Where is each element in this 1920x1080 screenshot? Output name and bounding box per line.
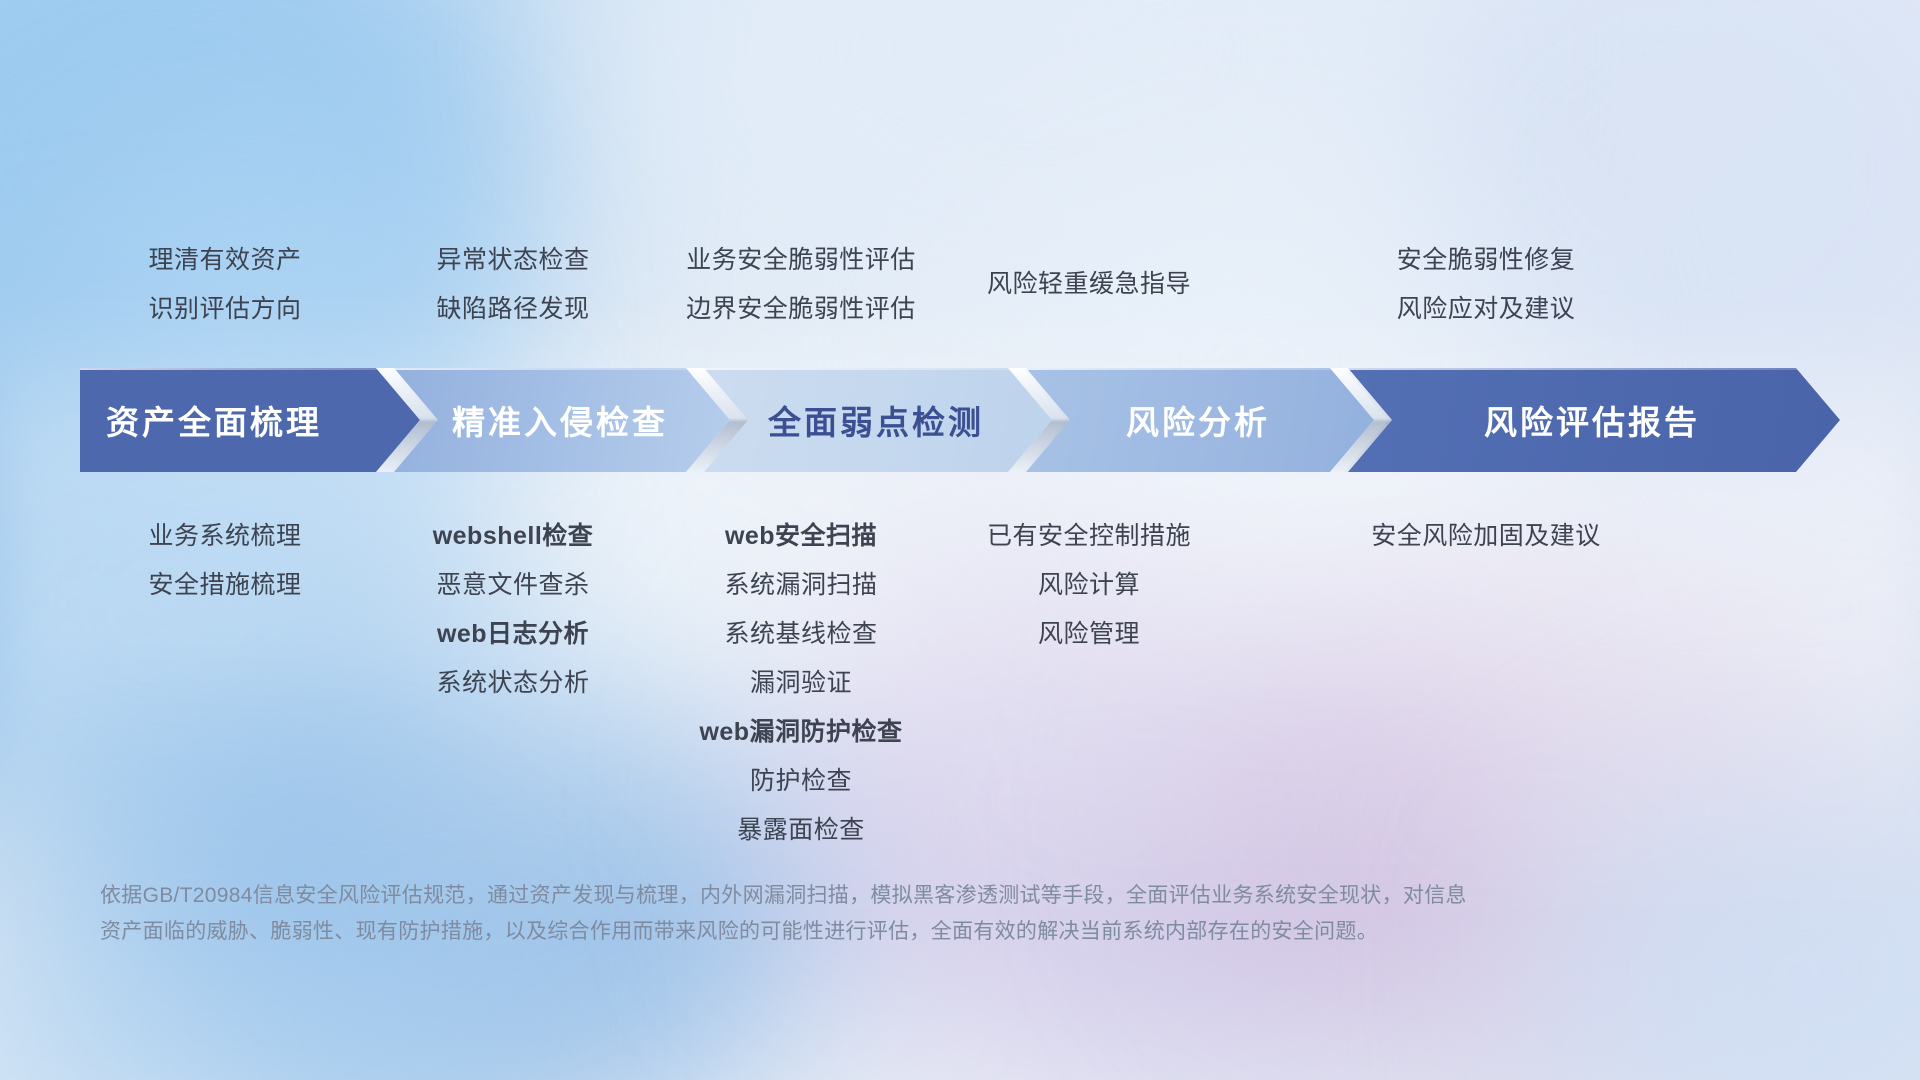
stage-bottom-item: 已有安全控制措施 xyxy=(944,512,1234,561)
stage-bottom-item: 风险计算 xyxy=(944,561,1234,610)
chevron-stage-asset-inventory[interactable]: 资产全面梳理 xyxy=(80,368,420,472)
stage-bottom-item: 安全风险加固及建议 xyxy=(1286,512,1686,561)
stage-top-item: 边界安全脆弱性评估 xyxy=(656,285,946,334)
stage-top-item: 缺陷路径发现 xyxy=(368,285,658,334)
stage-top-item: 识别评估方向 xyxy=(80,285,370,334)
stage-bottom-item: 安全措施梳理 xyxy=(80,561,370,610)
stage-top-list: 异常状态检查 缺陷路径发现 xyxy=(368,236,658,334)
stage-bottom-item: 系统漏洞扫描 xyxy=(656,561,946,610)
stage-bottom-item: 防护检查 xyxy=(656,757,946,806)
stage-bottom-item: webshell检查 xyxy=(368,512,658,561)
stage-top-item: 安全脆弱性修复 xyxy=(1286,236,1686,285)
stage-bottom-item: web安全扫描 xyxy=(656,512,946,561)
chevron-stage-risk-report[interactable]: 风险评估报告 xyxy=(1344,368,1840,472)
stage-bottom-list: 安全风险加固及建议 xyxy=(1286,512,1686,561)
stage-bottom-item: web日志分析 xyxy=(368,610,658,659)
slide-content: 理清有效资产 识别评估方向 业务系统梳理 安全措施梳理 异常状态检查 缺陷路径发… xyxy=(0,0,1920,1080)
stage-bottom-item: 系统状态分析 xyxy=(368,659,658,708)
stage-bottom-item: 漏洞验证 xyxy=(656,659,946,708)
stage-bottom-item: web漏洞防护检查 xyxy=(656,708,946,757)
stage-bottom-list: 已有安全控制措施 风险计算 风险管理 xyxy=(944,512,1234,659)
chevron-label: 风险分析 xyxy=(1126,396,1270,444)
chevron-label: 资产全面梳理 xyxy=(106,396,322,444)
stage-top-list: 理清有效资产 识别评估方向 xyxy=(80,236,370,334)
chevron-stage-weakness-detection[interactable]: 全面弱点检测 xyxy=(700,368,1052,472)
stage-bottom-list: web安全扫描 系统漏洞扫描 系统基线检查 漏洞验证 web漏洞防护检查 防护检… xyxy=(656,512,946,855)
chevron-stage-intrusion-check[interactable]: 精准入侵检查 xyxy=(390,368,730,472)
stage-bottom-item: 暴露面检查 xyxy=(656,806,946,855)
chevron-label: 风险评估报告 xyxy=(1484,396,1700,444)
stage-bottom-item: 风险管理 xyxy=(944,610,1234,659)
stage-top-list: 风险轻重缓急指导 xyxy=(944,260,1234,309)
chevron-label: 全面弱点检测 xyxy=(768,396,984,444)
chevron-stage-risk-analysis[interactable]: 风险分析 xyxy=(1022,368,1374,472)
stage-top-item: 业务安全脆弱性评估 xyxy=(656,236,946,285)
stage-top-item: 理清有效资产 xyxy=(80,236,370,285)
stage-bottom-item: 业务系统梳理 xyxy=(80,512,370,561)
footer-line: 依据GB/T20984信息安全风险评估规范，通过资产发现与梳理，内外网漏洞扫描，… xyxy=(100,878,1660,914)
stage-top-item: 异常状态检查 xyxy=(368,236,658,285)
stage-bottom-item: 系统基线检查 xyxy=(656,610,946,659)
stage-top-list: 业务安全脆弱性评估 边界安全脆弱性评估 xyxy=(656,236,946,334)
footer-line: 资产面临的威胁、脆弱性、现有防护措施，以及综合作用而带来风险的可能性进行评估，全… xyxy=(100,914,1660,950)
stage-top-list: 安全脆弱性修复 风险应对及建议 xyxy=(1286,236,1686,334)
stage-bottom-list: 业务系统梳理 安全措施梳理 xyxy=(80,512,370,610)
stage-top-item: 风险轻重缓急指导 xyxy=(944,260,1234,309)
stage-bottom-item: 恶意文件查杀 xyxy=(368,561,658,610)
stage-top-item: 风险应对及建议 xyxy=(1286,285,1686,334)
chevron-label: 精准入侵检查 xyxy=(452,396,668,444)
process-chevron-band: 资产全面梳理 精准入侵检查 全面弱点检测 风险分析 风险评估报告 xyxy=(80,368,1840,472)
footer-description: 依据GB/T20984信息安全风险评估规范，通过资产发现与梳理，内外网漏洞扫描，… xyxy=(100,878,1660,950)
risk-assessment-process-slide: 理清有效资产 识别评估方向 业务系统梳理 安全措施梳理 异常状态检查 缺陷路径发… xyxy=(0,0,1920,1080)
stage-bottom-list: webshell检查 恶意文件查杀 web日志分析 系统状态分析 xyxy=(368,512,658,708)
